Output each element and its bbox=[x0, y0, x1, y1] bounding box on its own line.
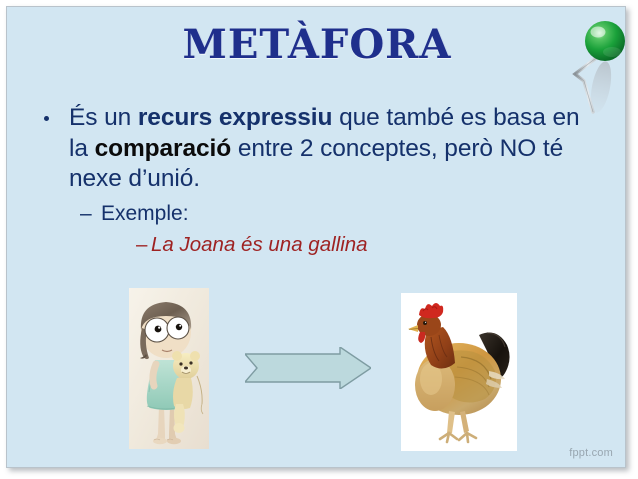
fppt-watermark: fppt.com bbox=[569, 447, 613, 459]
girl-with-teddy-illustration bbox=[129, 288, 209, 449]
bullet-level2: –Exemple: bbox=[33, 201, 593, 226]
bullet-level1: És un recurs expressiu que també es basa… bbox=[33, 103, 593, 195]
bullet1-bold-black: comparació bbox=[95, 135, 232, 162]
bullet1-part1: És un bbox=[69, 104, 138, 131]
dash-bullet-icon-2: – bbox=[136, 233, 147, 258]
brown-hen-photo bbox=[401, 293, 517, 451]
green-pushpin-icon bbox=[565, 17, 626, 117]
slide-root: METÀFORA bbox=[0, 0, 638, 479]
dash-bullet-icon: – bbox=[80, 201, 92, 226]
page-title: METÀFORA bbox=[7, 25, 626, 65]
right-block-arrow-icon bbox=[245, 347, 371, 389]
bullet-dot-icon bbox=[44, 116, 49, 121]
bullet-level3: –La Joana és una gallina bbox=[33, 233, 593, 258]
bullet3-text: La Joana és una gallina bbox=[151, 233, 368, 256]
bullet2-text: Exemple: bbox=[101, 202, 189, 225]
presentation-slide: METÀFORA bbox=[6, 6, 626, 468]
slide-body: És un recurs expressiu que també es basa… bbox=[33, 103, 593, 258]
bullet1-bold-navy: recurs expressiu bbox=[138, 104, 333, 131]
